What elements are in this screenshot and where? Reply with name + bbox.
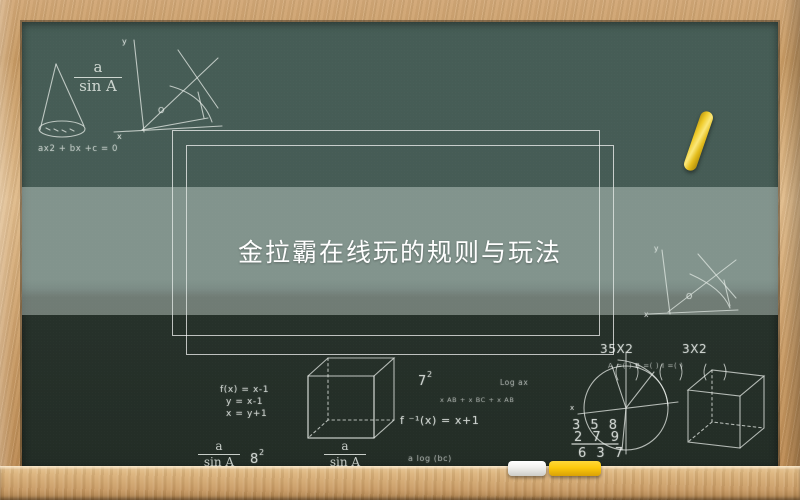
power-seven-base: 7 bbox=[418, 374, 427, 389]
small-segment-equation: x AB + x BC + x AB bbox=[440, 396, 514, 404]
inverse-function-label: f ⁻¹(x) = x+1 bbox=[400, 414, 479, 427]
function-line-2: y = x-1 bbox=[226, 397, 263, 407]
cube-drawing-center bbox=[308, 358, 394, 438]
yellow-chalk-stick-icon bbox=[682, 110, 714, 173]
fraction-denominator: sin A bbox=[198, 456, 240, 466]
log-ax-label: Log ax bbox=[500, 378, 528, 387]
quadratic-equation-topleft: ax2 + bx +c = 0 bbox=[38, 144, 118, 154]
chalk-ledge bbox=[0, 466, 800, 500]
chalkboard-surface: a sin A y x O ax2 + bx +c = 0 f(x) = x-1… bbox=[22, 22, 778, 466]
fraction-bar bbox=[74, 77, 122, 78]
white-chalk-icon bbox=[508, 461, 546, 476]
axis-label-y-topleft: y bbox=[122, 37, 127, 46]
addition-row-sum: 6 3 7 bbox=[578, 446, 626, 461]
cone-drawing bbox=[39, 64, 85, 137]
fraction-a-over-sinA-left: a sin A bbox=[198, 440, 240, 466]
matrix-definition-row: A =( ) B =( ) I =( ) bbox=[608, 362, 683, 370]
log-bc-label: a log (bc) bbox=[408, 454, 452, 463]
yellow-chalk-icon bbox=[549, 461, 601, 476]
fraction-a-over-sinA-topleft: a sin A bbox=[74, 60, 122, 95]
axis-label-x-topleft: x bbox=[117, 132, 122, 141]
fraction-numerator: a bbox=[324, 440, 366, 453]
addition-row-1: 3 5 8 bbox=[572, 418, 620, 433]
power-eight-base: 8 bbox=[250, 452, 259, 466]
addition-row-2: 2 7 9 bbox=[574, 430, 622, 445]
angle-label-topleft: O bbox=[158, 106, 165, 115]
ledge-highlight bbox=[0, 466, 800, 470]
chalkboard-banner: a sin A y x O ax2 + bx +c = 0 f(x) = x-1… bbox=[0, 0, 800, 500]
fraction-bar bbox=[324, 454, 366, 455]
fraction-a-over-sinA-center: a sin A bbox=[324, 440, 366, 466]
fraction-denominator: sin A bbox=[324, 456, 366, 466]
page-title: 金拉霸在线玩的规则与玩法 bbox=[22, 187, 778, 315]
fraction-numerator: a bbox=[198, 440, 240, 453]
fraction-denominator: sin A bbox=[74, 79, 122, 95]
function-line-1: f(x) = x-1 bbox=[220, 385, 269, 395]
function-line-3: x = y+1 bbox=[226, 409, 267, 419]
power-seven-exponent: 2 bbox=[427, 370, 433, 379]
axes-angle-top-left bbox=[114, 40, 222, 132]
matrix-size-label-2: 3X2 bbox=[682, 342, 707, 356]
fraction-numerator: a bbox=[74, 60, 122, 76]
axis-label-x-bottomright: x bbox=[570, 404, 575, 412]
matrix-brackets bbox=[616, 364, 726, 380]
power-eight-exponent: 2 bbox=[259, 448, 265, 457]
cube-drawing-bottom-right bbox=[688, 370, 764, 448]
circle-axes-bottom-right bbox=[578, 352, 678, 454]
fraction-bar bbox=[198, 454, 240, 455]
